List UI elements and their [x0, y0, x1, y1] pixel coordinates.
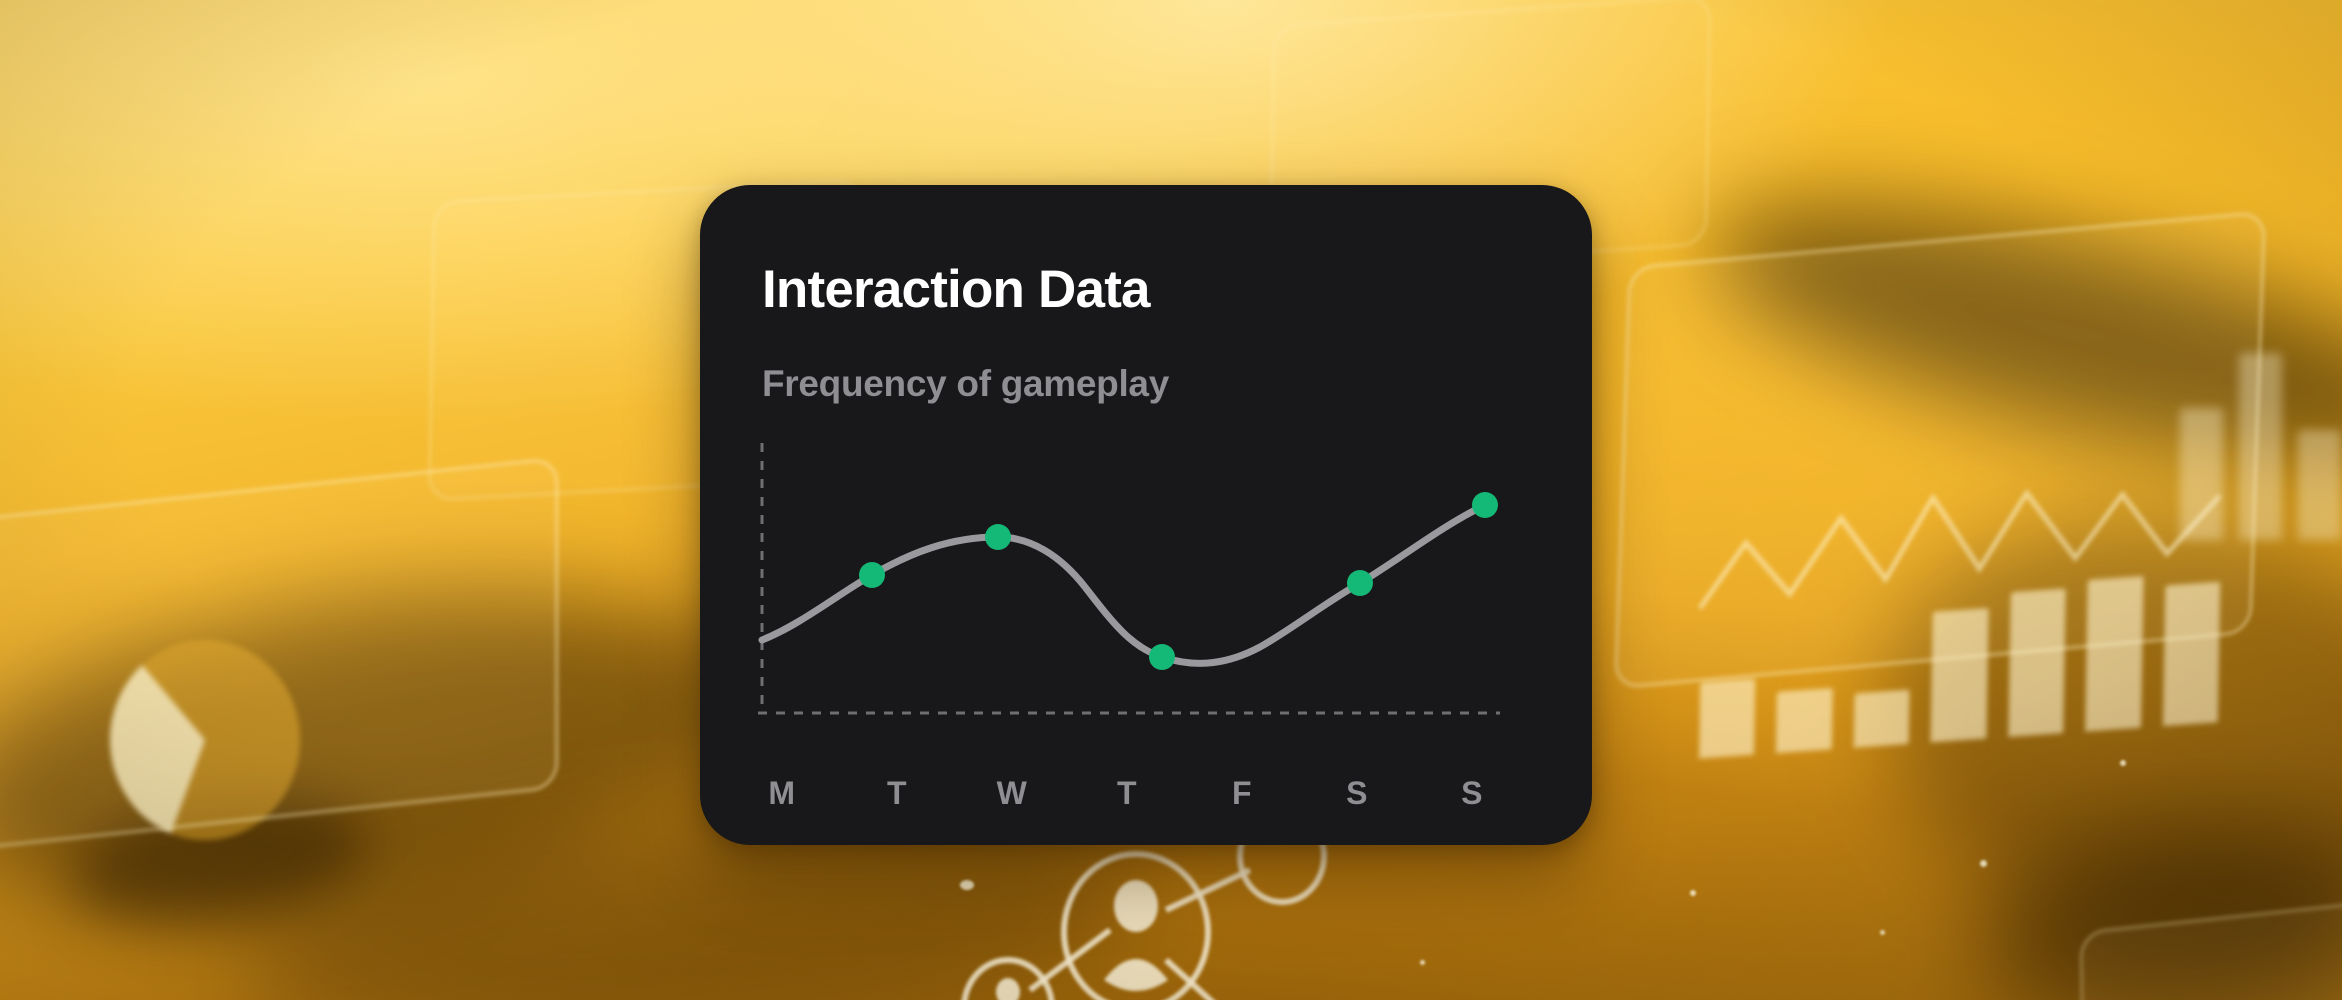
data-point-marker[interactable] — [1149, 644, 1175, 670]
interaction-data-card: Interaction Data Frequency of gameplay M — [700, 185, 1592, 845]
background-sparkle — [2120, 760, 2126, 766]
background-glass-panel — [0, 457, 558, 854]
background-sparkle — [1980, 860, 1987, 867]
data-point-marker[interactable] — [1472, 492, 1498, 518]
background-sparkle — [960, 880, 974, 890]
line-chart-svg — [700, 185, 1592, 845]
background-sparkle — [1880, 930, 1885, 935]
screenshot-stage: Interaction Data Frequency of gameplay M — [0, 0, 2342, 1000]
x-axis-label-wednesday: W — [992, 775, 1032, 812]
x-axis-label-friday: F — [1222, 775, 1262, 812]
x-axis-labels: M T W T F S S — [762, 770, 1492, 816]
data-point-marker[interactable] — [985, 524, 1011, 550]
background-sparkle — [1690, 890, 1696, 896]
x-axis-label-saturday: S — [1337, 775, 1377, 812]
line-chart: M T W T F S S — [700, 185, 1592, 845]
background-sparkle — [1420, 960, 1425, 965]
x-axis-label-sunday: S — [1452, 775, 1492, 812]
x-axis-label-tuesday: T — [877, 775, 917, 812]
data-point-marker[interactable] — [859, 562, 885, 588]
background-bar-chart-graphic — [2180, 300, 2342, 540]
background-network-graphic — [930, 840, 1350, 1000]
x-axis-label-thursday: T — [1107, 775, 1147, 812]
x-axis-label-monday: M — [762, 775, 802, 812]
data-point-marker[interactable] — [1347, 570, 1373, 596]
